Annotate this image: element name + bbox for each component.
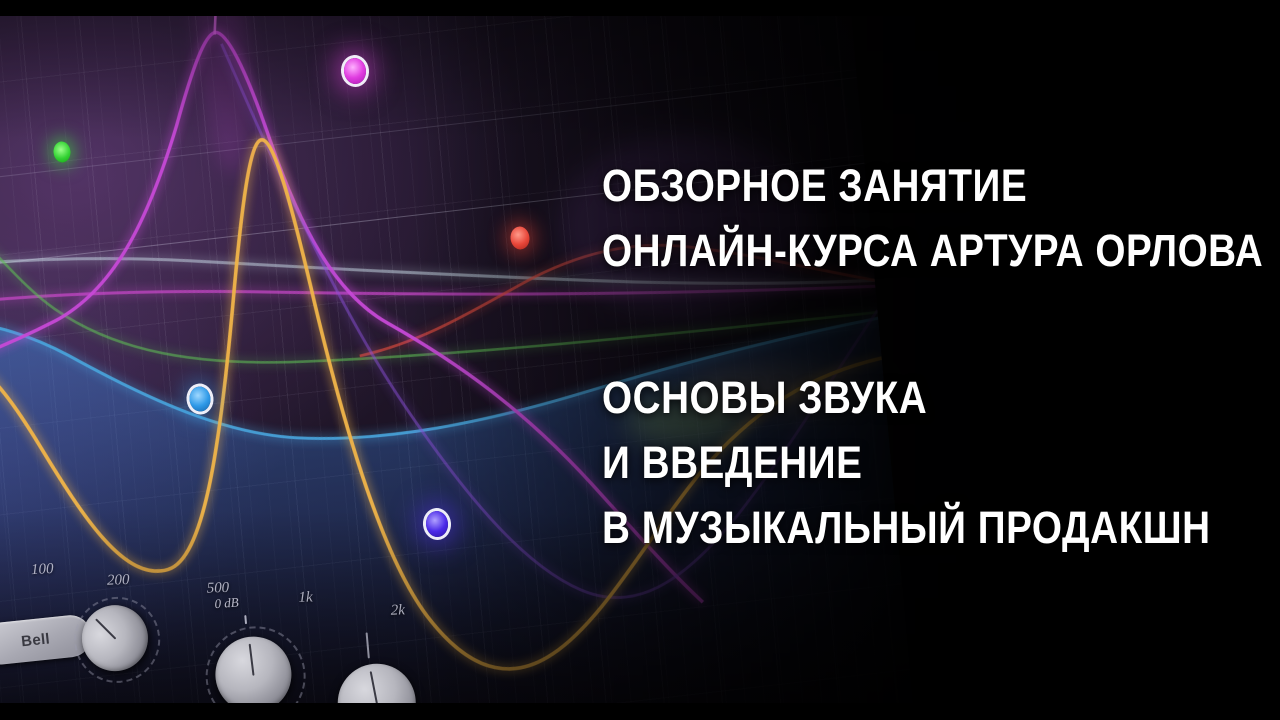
- q-knob[interactable]: [331, 657, 422, 703]
- glow-magenta-peak: [186, 16, 259, 176]
- title-line-2: ОНЛАЙН-КУРСА АРТУРА ОРЛОВА: [602, 228, 1263, 273]
- filter-type-label: Bell: [20, 630, 50, 650]
- frequency-knob[interactable]: [68, 592, 161, 685]
- freq-label-200: 200: [107, 572, 130, 590]
- subtitle-line-2: И ВВЕДЕНИЕ: [602, 440, 862, 485]
- freq-label-100: 100: [31, 561, 54, 579]
- video-thumbnail: Bell 0 dB 50 100 200 500 1k 2k: [0, 0, 1280, 720]
- title-line-1: ОБЗОРНОЕ ЗАНЯТИЕ: [602, 163, 1027, 208]
- freq-label-1k: 1k: [298, 589, 313, 606]
- gain-knob-center-tick: [244, 615, 247, 624]
- freq-label-2k: 2k: [390, 602, 405, 619]
- title-overlay: ОБЗОРНОЕ ЗАНЯТИЕ ОНЛАЙН-КУРСА АРТУРА ОРЛ…: [602, 0, 1262, 720]
- letterbox-bottom: [0, 703, 1280, 720]
- freq-label-500: 500: [206, 580, 229, 598]
- q-knob-center-tick: [366, 632, 370, 658]
- subtitle-line-3: В МУЗЫКАЛЬНЫЙ ПРОДАКШН: [602, 505, 1211, 550]
- letterbox-top: [0, 0, 1280, 16]
- subtitle-line-1: ОСНОВЫ ЗВУКА: [602, 375, 927, 420]
